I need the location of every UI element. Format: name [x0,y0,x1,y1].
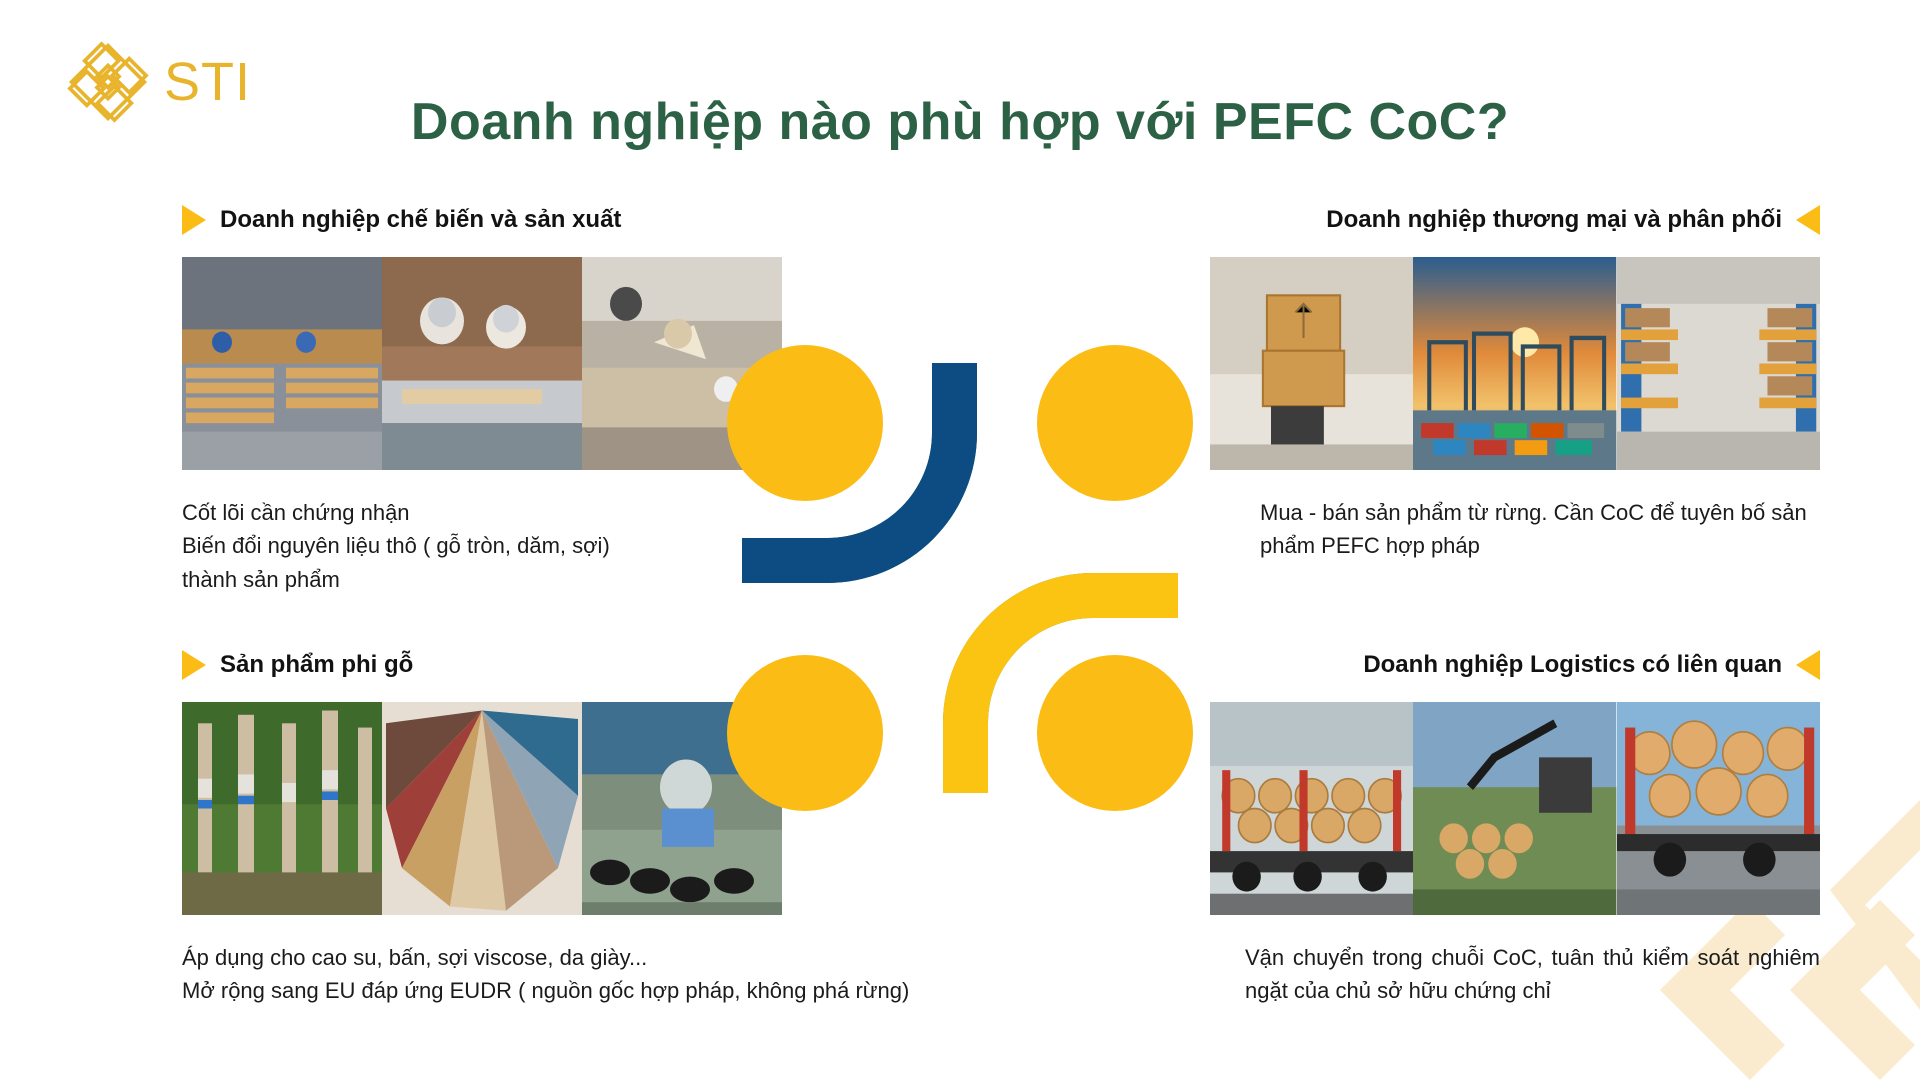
pefc-pinwheel-graphic [700,318,1220,838]
worker-carrying-cartons-photo [1210,257,1413,470]
container-port-cranes-sunset-photo [1413,257,1616,470]
rubber-tree-plantation-photo [182,702,382,915]
quadrant-trade-distribution: Doanh nghiệp thương mại và phân phối [1120,205,1820,563]
image-strip [182,257,782,470]
image-strip [182,702,782,915]
log-truck-rear-view-photo [1617,702,1820,915]
quadrant-body: Mua - bán sản phẩm từ rừng. Cần CoC để t… [1260,496,1820,563]
fabric-textile-swatches-photo [382,702,582,915]
triangle-left-icon [1796,205,1820,235]
logging-truck-loaded-logs-photo [1210,702,1413,915]
quadrant-header: Doanh nghiệp chế biến và sản xuất [182,205,822,235]
quadrant-header: Doanh nghiệp thương mại và phân phối [1120,205,1820,235]
triangle-left-icon [1796,650,1820,680]
quadrant-heading: Doanh nghiệp thương mại và phân phối [1326,206,1782,234]
quadrant-logistics: Doanh nghiệp Logistics có liên quan [1120,650,1820,1008]
quadrant-header: Doanh nghiệp Logistics có liên quan [1120,650,1820,680]
quadrant-heading: Sản phẩm phi gỗ [220,651,413,679]
workers-sanding-wood-photo [382,257,582,470]
image-strip [1210,257,1820,470]
yellow-circle-bottom-right [1037,655,1193,811]
quadrant-heading: Doanh nghiệp Logistics có liên quan [1363,651,1782,679]
quadrant-body: Áp dụng cho cao su, bấn, sợi viscose, da… [182,941,942,1008]
crane-loading-timber-photo [1413,702,1616,915]
quadrant-body: Vận chuyển trong chuỗi CoC, tuân thủ kiể… [1245,941,1820,1008]
sawmill-timber-stacks-photo [182,257,382,470]
image-strip [1210,702,1820,915]
quadrant-heading: Doanh nghiệp chế biến và sản xuất [220,206,621,234]
yellow-circle-bottom-left [727,655,883,811]
yellow-circle-top-left [727,345,883,501]
triangle-right-icon [182,650,206,680]
page-title: Doanh nghiệp nào phù hợp với PEFC CoC? [0,92,1920,152]
yellow-circle-top-right [1037,345,1193,501]
triangle-right-icon [182,205,206,235]
warehouse-racking-aisle-photo [1617,257,1820,470]
